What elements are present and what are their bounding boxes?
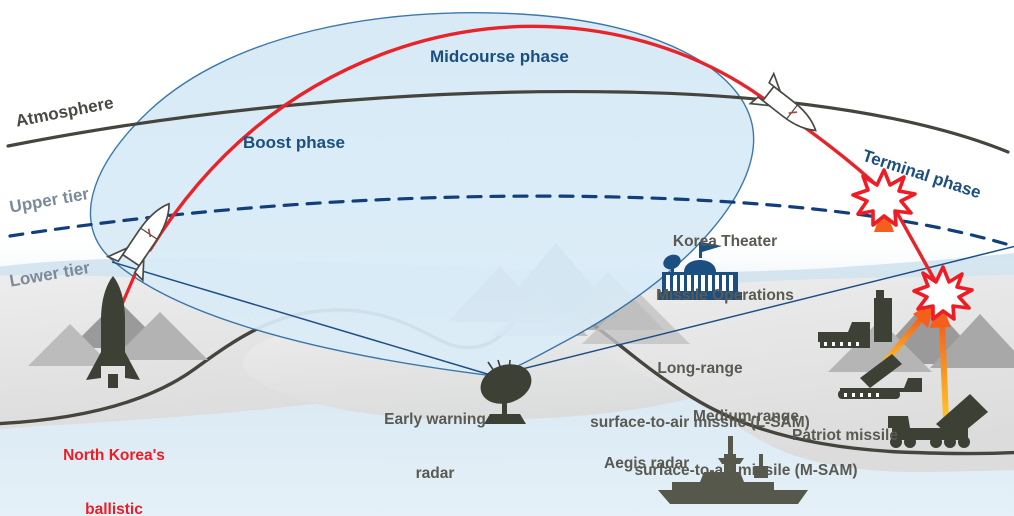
label-nk-launcher-line1: North Korea's [24,447,204,465]
label-patriot-missile: Patriot missile [792,427,898,445]
label-early-warning-radar-line2: radar [374,465,496,483]
label-aegis-radar: Aegis radar [604,455,689,473]
label-msam-line1: Medium-range [612,408,880,426]
label-ktmo-line2: Missile Operations [650,287,800,305]
ballistic-missile-icon[interactable] [86,276,140,388]
label-nk-launcher-line2: ballistic [24,501,204,516]
label-early-warning-radar-line1: Early warning [374,411,496,429]
label-boost-phase: Boost phase [243,133,345,153]
label-ktmo-line1: Korea Theater [650,233,800,251]
label-midcourse-phase: Midcourse phase [430,47,569,67]
missile-defense-diagram: Midcourse phase Boost phase Terminal pha… [0,0,1014,516]
patriot-launcher-icon[interactable] [888,394,988,448]
